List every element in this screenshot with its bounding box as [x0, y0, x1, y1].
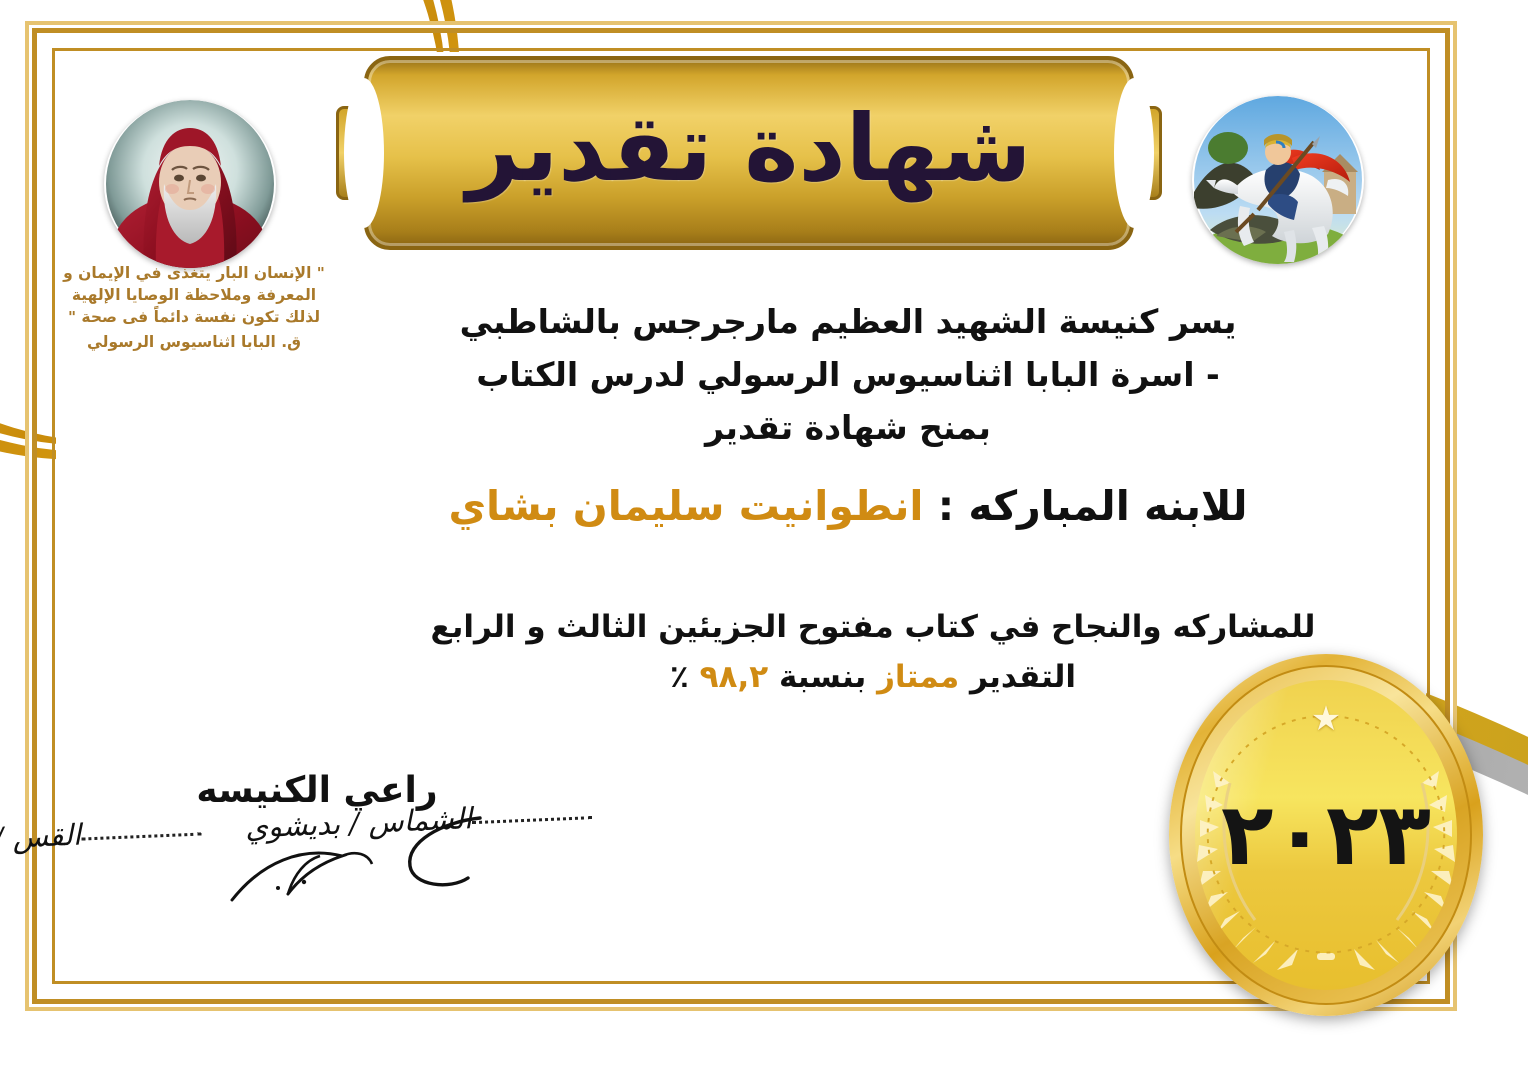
achievement-reason: للمشاركه والنجاح في كتاب مفتوح الجزيئين …: [368, 602, 1378, 652]
signature-dotted-line-right: [81, 832, 201, 840]
medal-face: ★ ٢٠٢٣: [1195, 680, 1457, 990]
quote-block: " الإنسان البار يتغذى في الإيمان و المعر…: [60, 262, 328, 353]
body-line-2: - اسرة البابا اثناسيوس الرسولي لدرس الكت…: [318, 349, 1378, 402]
certificate-canvas: شهادة تقدير: [0, 0, 1528, 1080]
certificate-title: شهادة تقدير: [364, 56, 1134, 250]
signature-block: راعي الكنيسه الشماس / بديشوي القس /بيوس …: [72, 770, 592, 841]
percent-sign: ٪: [670, 659, 700, 695]
grade-mid: بنسبة: [768, 659, 877, 695]
recipient-name: انطوانيت سليمان بشاي: [448, 482, 923, 530]
recipient-prefix: للابنه المباركه :: [923, 482, 1247, 530]
grade-word: ممتاز: [877, 659, 959, 695]
saint-george-icon: [1192, 96, 1364, 264]
year-medal: ★ ٢٠٢٣: [1169, 654, 1483, 1016]
signature-dotted-line-left: [472, 816, 592, 824]
signature-name-right: القس /بيوس مينا: [0, 818, 82, 861]
certificate-body: يسر كنيسة الشهيد العظيم مارجرجس بالشاطبي…: [318, 296, 1378, 454]
title-plaque: شهادة تقدير: [364, 56, 1134, 250]
pope-athanasius-icon: [104, 100, 276, 268]
quote-text: " الإنسان البار يتغذى في الإيمان و المعر…: [60, 262, 328, 328]
quote-attribution: ق. البابا اثناسيوس الرسولي: [60, 331, 328, 353]
body-line-1: يسر كنيسة الشهيد العظيم مارجرجس بالشاطبي: [318, 296, 1378, 349]
grade-percentage: ٩٨,٢: [700, 659, 769, 695]
grade-prefix: التقدير: [959, 659, 1076, 695]
recipient-line: للابنه المباركه : انطوانيت سليمان بشاي: [318, 480, 1378, 533]
medal-year-label: ٢٠٢٣: [1195, 680, 1457, 990]
certificate-content: شهادة تقدير: [0, 0, 1528, 1080]
body-line-3: بمنح شهادة تقدير: [318, 402, 1378, 455]
